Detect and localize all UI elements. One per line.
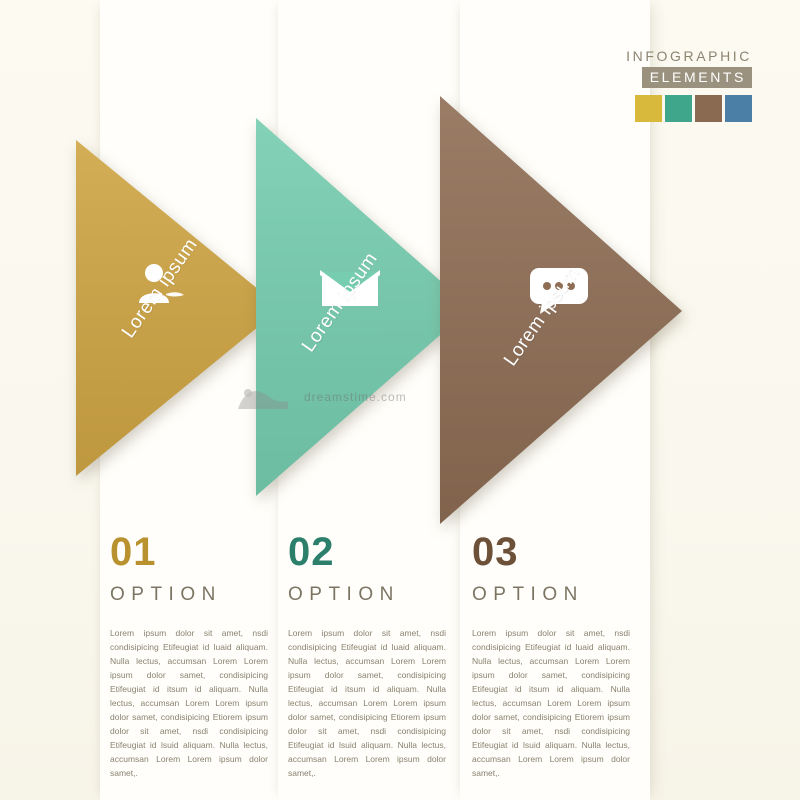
- column-option-label-1: OPTION: [110, 584, 268, 606]
- column-number-3: 03: [472, 530, 630, 574]
- column-2: 02 OPTION Lorem ipsum dolor sit amet, ns…: [288, 530, 446, 780]
- legend-swatches: [626, 95, 752, 122]
- legend: INFOGRAPHIC ELEMENTS: [626, 48, 752, 122]
- legend-title-line-2: ELEMENTS: [642, 67, 752, 88]
- legend-title-line-1: INFOGRAPHIC: [626, 48, 752, 64]
- column-number-1: 01: [110, 530, 268, 574]
- infographic-canvas: Lorem ipsum Lorem ipsum: [0, 0, 800, 800]
- swatch-1: [635, 95, 662, 122]
- column-option-label-2: OPTION: [288, 584, 446, 606]
- column-option-label-3: OPTION: [472, 584, 630, 606]
- swatch-2: [665, 95, 692, 122]
- swatch-4: [725, 95, 752, 122]
- column-number-2: 02: [288, 530, 446, 574]
- column-body-1: Lorem ipsum dolor sit amet, nsdi condisi…: [110, 626, 268, 780]
- column-3: 03 OPTION Lorem ipsum dolor sit amet, ns…: [472, 530, 630, 780]
- column-body-2: Lorem ipsum dolor sit amet, nsdi condisi…: [288, 626, 446, 780]
- column-body-3: Lorem ipsum dolor sit amet, nsdi condisi…: [472, 626, 630, 780]
- swatch-3: [695, 95, 722, 122]
- column-1: 01 OPTION Lorem ipsum dolor sit amet, ns…: [110, 530, 268, 780]
